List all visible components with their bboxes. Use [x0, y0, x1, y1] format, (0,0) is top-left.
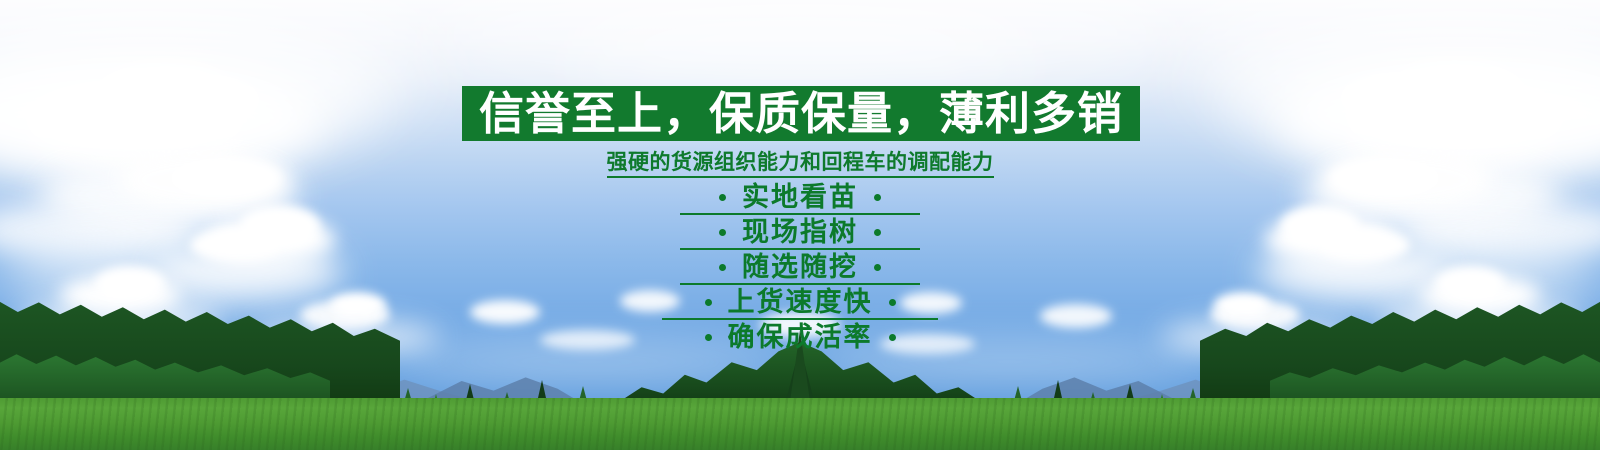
headline-text: 信誉至上，保质保量，薄利多销: [479, 91, 1123, 136]
feature-item-4: 上货速度快: [600, 285, 1000, 320]
feature-label: 随选随挖: [726, 254, 874, 281]
bullet-dot-left-icon: [719, 229, 726, 236]
feature-label: 上货速度快: [712, 289, 889, 316]
bullet-dot-left-icon: [719, 264, 726, 271]
bullet-dot-right-icon: [889, 299, 896, 306]
bullet-dot-right-icon: [874, 229, 881, 236]
subtitle-text: 强硬的货源组织能力和回程车的调配能力: [607, 150, 994, 178]
feature-item-5: 确保成活率: [600, 320, 1000, 355]
headline-bar: 信誉至上，保质保量，薄利多销: [462, 86, 1140, 141]
bullet-dot-left-icon: [705, 334, 712, 341]
promotional-banner: 信誉至上，保质保量，薄利多销 强硬的货源组织能力和回程车的调配能力 实地看苗 现…: [0, 0, 1600, 450]
feature-label: 实地看苗: [726, 184, 874, 211]
feature-item-1: 实地看苗: [600, 180, 1000, 215]
feature-item-3: 随选随挖: [600, 250, 1000, 285]
subtitle: 强硬的货源组织能力和回程车的调配能力: [0, 146, 1600, 176]
bullet-dot-left-icon: [719, 194, 726, 201]
feature-label: 确保成活率: [712, 324, 889, 351]
feature-label: 现场指树: [726, 219, 874, 246]
bullet-dot-right-icon: [874, 264, 881, 271]
feature-item-2: 现场指树: [600, 215, 1000, 250]
bullet-dot-right-icon: [874, 194, 881, 201]
banner-content: 信誉至上，保质保量，薄利多销 强硬的货源组织能力和回程车的调配能力 实地看苗 现…: [0, 0, 1600, 450]
bullet-dot-left-icon: [705, 299, 712, 306]
feature-list: 实地看苗 现场指树 随选随挖 上货速度快: [600, 180, 1000, 355]
bullet-dot-right-icon: [889, 334, 896, 341]
